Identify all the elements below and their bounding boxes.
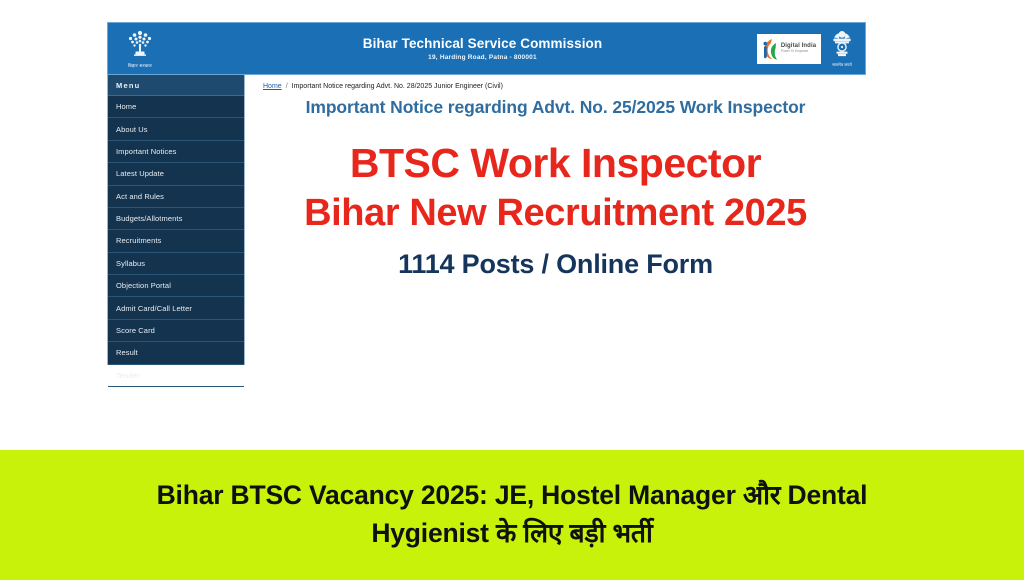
header-title-block: Bihar Technical Service Commission 19, H… bbox=[168, 36, 757, 61]
sidebar-item-tender[interactable]: Tender bbox=[108, 365, 244, 387]
notice-heading-zone: Important Notice regarding Advt. No. 25/… bbox=[245, 97, 866, 118]
poster-headline-secondary: Bihar New Recruitment 2025 bbox=[245, 193, 866, 235]
poster-headline-primary: BTSC Work Inspector bbox=[245, 142, 866, 185]
breadcrumb-current-page: Important Notice regarding Advt. No. 28/… bbox=[292, 83, 503, 90]
header-logos: Digital India Power To Empower bbox=[757, 30, 853, 68]
digital-india-tagline: Power To Empower bbox=[781, 50, 816, 53]
sidebar-item-important-notices[interactable]: Important Notices bbox=[108, 141, 244, 163]
sidebar-item-score-card[interactable]: Score Card bbox=[108, 320, 244, 342]
site-header-bar: बिहार सरकार Bihar Technical Service Comm… bbox=[107, 22, 866, 75]
bihar-government-emblem-icon: बिहार सरकार bbox=[112, 24, 168, 74]
sidebar-item-admit-card-call-letter[interactable]: Admit Card/Call Letter bbox=[108, 297, 244, 319]
bihar-emblem-caption: बिहार सरकार bbox=[128, 63, 152, 69]
digital-india-logo-icon: Digital India Power To Empower bbox=[757, 34, 821, 64]
page-title: Important Notice regarding Advt. No. 25/… bbox=[245, 97, 866, 118]
sidebar-menu: Menu Home About Us Important Notices Lat… bbox=[107, 75, 245, 365]
ashoka-emblem-caption: सत्यमेव जयते bbox=[832, 62, 851, 68]
breadcrumb-home-link[interactable]: Home bbox=[263, 83, 282, 90]
sidebar-item-syllabus[interactable]: Syllabus bbox=[108, 253, 244, 275]
sidebar-item-home[interactable]: Home bbox=[108, 96, 244, 118]
site-title: Bihar Technical Service Commission bbox=[208, 36, 757, 52]
caption-text: Bihar BTSC Vacancy 2025: JE, Hostel Mana… bbox=[112, 477, 912, 552]
breadcrumb: Home/Important Notice regarding Advt. No… bbox=[245, 75, 866, 90]
recruitment-poster: BTSC Work Inspector Bihar New Recruitmen… bbox=[245, 142, 866, 280]
sidebar-item-budgets-allotments[interactable]: Budgets/Allotments bbox=[108, 208, 244, 230]
sidebar-item-latest-update[interactable]: Latest Update bbox=[108, 163, 244, 185]
sidebar-item-recruitments[interactable]: Recruitments bbox=[108, 230, 244, 252]
sidebar-filler-row bbox=[108, 387, 244, 402]
sidebar-item-result[interactable]: Result bbox=[108, 342, 244, 364]
sidebar-item-about-us[interactable]: About Us bbox=[108, 118, 244, 140]
breadcrumb-separator: / bbox=[286, 83, 288, 90]
sidebar-item-objection-portal[interactable]: Objection Portal bbox=[108, 275, 244, 297]
screenshot-canvas: बिहार सरकार Bihar Technical Service Comm… bbox=[0, 0, 1024, 580]
poster-posts-and-form: 1114 Posts / Online Form bbox=[245, 249, 866, 280]
sidebar-heading: Menu bbox=[108, 75, 244, 96]
caption-banner: Bihar BTSC Vacancy 2025: JE, Hostel Mana… bbox=[0, 450, 1024, 580]
ashoka-pillar-emblem-icon: सत्यमेव जयते bbox=[831, 30, 853, 68]
btsc-website-screenshot: बिहार सरकार Bihar Technical Service Comm… bbox=[107, 22, 866, 422]
sidebar-item-act-and-rules[interactable]: Act and Rules bbox=[108, 186, 244, 208]
site-address: 19, Harding Road, Patna - 800001 bbox=[208, 54, 757, 61]
